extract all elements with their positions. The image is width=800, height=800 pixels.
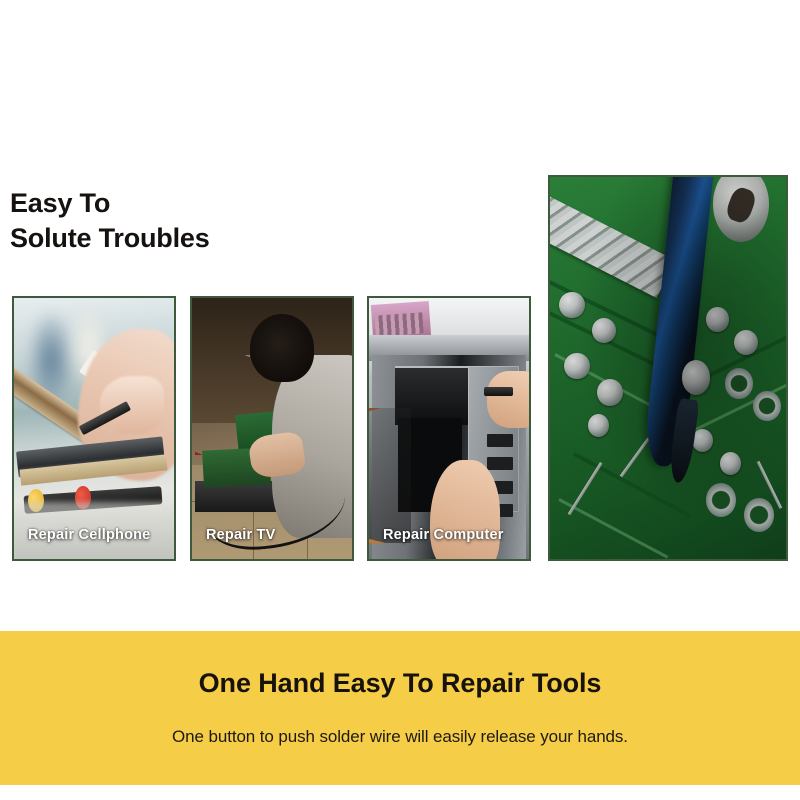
hero-solder-pad: [588, 414, 609, 437]
photo3-cable-bundle: [369, 408, 411, 544]
hero-solder-pad: [720, 452, 741, 475]
gallery-hero-image[interactable]: [548, 175, 788, 561]
gallery-thumbnail-repair-cellphone[interactable]: Repair Cellphone: [12, 296, 176, 561]
hero-molten-solder-blob: [682, 360, 710, 394]
photo-pcb-macro: [550, 177, 786, 559]
photo3-card-connector: [375, 312, 424, 336]
gallery-thumbnail-repair-tv[interactable]: Repair TV: [190, 296, 354, 561]
photo1-fingers: [100, 376, 164, 433]
gallery-caption: Repair TV: [206, 527, 276, 543]
photo-repair-tv: [192, 298, 352, 559]
promo-page: Easy To Solute Troubles Repai: [0, 0, 800, 800]
photo3-bay-slot: [487, 457, 513, 470]
gallery-caption: Repair Computer: [383, 527, 504, 543]
banner-subtitle: One button to push solder wire will easi…: [0, 727, 800, 747]
hero-solder-pad: [706, 307, 730, 332]
photo-repair-computer: [369, 298, 529, 559]
gallery-caption: Repair Cellphone: [28, 527, 150, 543]
banner-title: One Hand Easy To Repair Tools: [0, 668, 800, 699]
photo3-bay-slot: [487, 434, 513, 447]
hero-plated-through-hole: [706, 483, 737, 517]
promo-banner: One Hand Easy To Repair Tools One button…: [0, 631, 800, 785]
photo3-hand-upper: [487, 371, 529, 428]
hero-plated-through-hole: [744, 498, 775, 532]
hero-plated-through-hole: [725, 368, 753, 399]
photo2-person-head: [250, 314, 314, 382]
hero-solder-pad: [734, 330, 758, 355]
photo-repair-cellphone: [14, 298, 174, 559]
gallery-thumbnail-repair-computer[interactable]: Repair Computer: [367, 296, 531, 561]
photo3-screwdriver-icon: [484, 387, 513, 396]
photo3-hand-lower: [430, 460, 500, 559]
image-gallery: Repair Cellphone Repair TV: [0, 175, 800, 565]
